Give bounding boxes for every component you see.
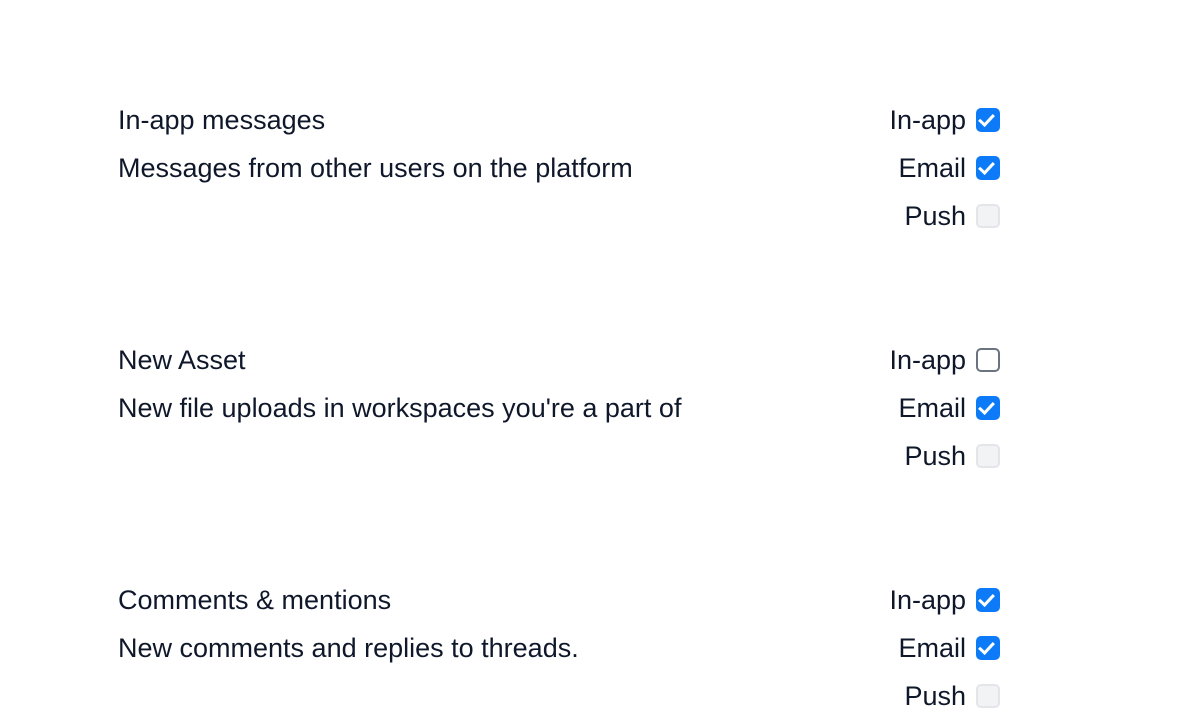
channel-row-push: Push [865, 432, 1000, 480]
preference-group-description: Messages from other users on the platfor… [118, 144, 841, 192]
preference-group-title: New Asset [118, 336, 841, 384]
preference-channel-list: In-app Email Push [865, 336, 1000, 480]
preference-group: In-app messages Messages from other user… [118, 96, 1000, 240]
channel-label-push: Push [904, 192, 966, 240]
channel-label-email: Email [898, 624, 966, 672]
checkbox-email[interactable] [976, 636, 1000, 660]
channel-label-push: Push [904, 432, 966, 480]
preference-group: Comments & mentions New comments and rep… [118, 576, 1000, 720]
preference-channel-list: In-app Email Push [865, 576, 1000, 720]
preference-group-title: In-app messages [118, 96, 841, 144]
channel-row-push: Push [865, 192, 1000, 240]
checkbox-in-app[interactable] [976, 588, 1000, 612]
channel-label-in-app: In-app [889, 96, 966, 144]
checkbox-box [976, 444, 1000, 468]
checkbox-box [976, 684, 1000, 708]
checkbox-push [976, 204, 1000, 228]
channel-row-email: Email [865, 624, 1000, 672]
checkbox-box [976, 204, 1000, 228]
notification-preferences-panel: In-app messages Messages from other user… [118, 96, 1000, 720]
channel-label-push: Push [904, 672, 966, 720]
checkbox-push [976, 444, 1000, 468]
checkbox-email[interactable] [976, 156, 1000, 180]
channel-label-email: Email [898, 384, 966, 432]
preference-group-description: New comments and replies to threads. [118, 624, 841, 672]
channel-row-email: Email [865, 384, 1000, 432]
channel-label-in-app: In-app [889, 336, 966, 384]
preference-group-description: New file uploads in workspaces you're a … [118, 384, 841, 432]
channel-row-push: Push [865, 672, 1000, 720]
preference-group: New Asset New file uploads in workspaces… [118, 336, 1000, 480]
preference-group-info: New Asset New file uploads in workspaces… [118, 336, 865, 432]
checkbox-box [976, 348, 1000, 372]
channel-label-email: Email [898, 144, 966, 192]
preference-channel-list: In-app Email Push [865, 96, 1000, 240]
checkbox-push [976, 684, 1000, 708]
preference-group-title: Comments & mentions [118, 576, 841, 624]
preference-group-info: Comments & mentions New comments and rep… [118, 576, 865, 672]
channel-row-in-app: In-app [865, 576, 1000, 624]
checkbox-in-app[interactable] [976, 108, 1000, 132]
channel-label-in-app: In-app [889, 576, 966, 624]
preference-group-info: In-app messages Messages from other user… [118, 96, 865, 192]
checkbox-email[interactable] [976, 396, 1000, 420]
checkbox-in-app[interactable] [976, 348, 1000, 372]
channel-row-in-app: In-app [865, 336, 1000, 384]
channel-row-email: Email [865, 144, 1000, 192]
channel-row-in-app: In-app [865, 96, 1000, 144]
